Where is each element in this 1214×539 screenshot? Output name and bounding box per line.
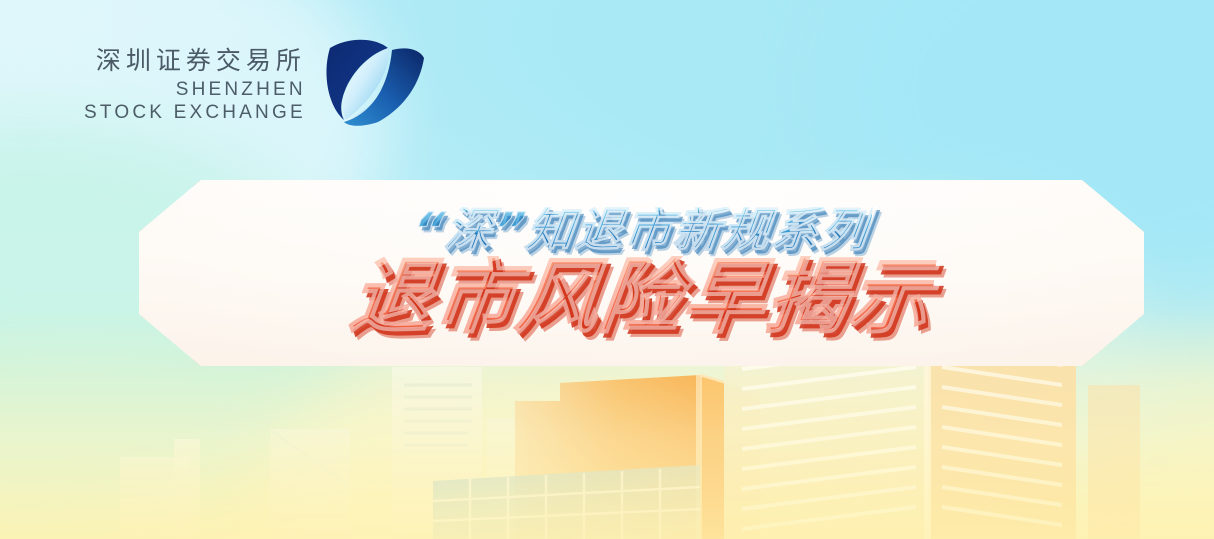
szse-wordmark: 深圳证券交易所 SHENZHEN STOCK EXCHANGE	[84, 48, 306, 122]
banner-stage: 深圳证券交易所 SHENZHEN STOCK EXCHANGE	[0, 0, 1214, 539]
banner-headline-group: “深”知退市新规系列 退市风险早揭示	[139, 180, 1144, 366]
far-right-slab	[1088, 385, 1140, 539]
szse-name-en-line2: STOCK EXCHANGE	[84, 103, 306, 122]
banner-subtitle: “深”知退市新规系列	[410, 207, 873, 256]
banner-title: 退市风险早揭示	[346, 256, 937, 340]
szse-name-cn: 深圳证券交易所	[91, 48, 306, 73]
pale-left-tower	[120, 429, 350, 539]
szse-logo-lockup: 深圳证券交易所 SHENZHEN STOCK EXCHANGE	[84, 48, 428, 133]
szse-leaf-logo-icon	[320, 32, 428, 133]
szse-name-en-line1: SHENZHEN	[176, 80, 306, 99]
